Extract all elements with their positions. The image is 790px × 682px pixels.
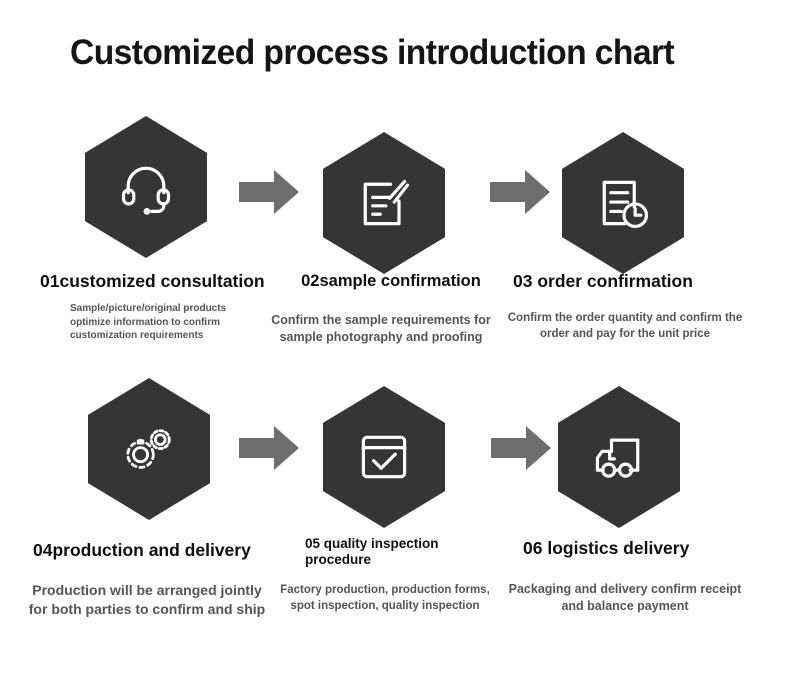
step-description-04: Production will be arranged jointly for … [22,581,272,619]
step-title-03: 03 order confirmation [513,271,693,291]
hexagon-step-01 [85,116,207,258]
step-title-04: 04production and delivery [33,540,251,560]
step-title-05: 05 quality inspection procedure [305,536,455,567]
step-description-01: Sample/picture/original products optimiz… [70,302,260,343]
gears-icon [119,419,179,479]
step-title-06: 06 logistics delivery [523,538,689,558]
arrow-01-to-02 [239,170,299,214]
hexagon-step-04 [88,378,210,520]
hexagon-step-05 [323,386,445,528]
document-pencil-icon [354,173,414,233]
arrow-02-to-03 [490,170,550,214]
step-description-06: Packaging and delivery confirm receipt a… [505,581,745,615]
arrow-04-to-05 [239,426,299,470]
document-clock-icon [593,173,653,233]
step-title-02: 02sample confirmation [291,272,491,291]
step-title-01: 01customized consultation [40,271,265,291]
page-title: Customized process introduction chart [70,33,674,73]
hexagon-step-02 [323,132,445,274]
delivery-truck-icon [589,427,649,487]
arrow-05-to-06 [491,426,551,470]
hexagon-step-03 [562,132,684,274]
step-description-03: Confirm the order quantity and confirm t… [505,311,745,342]
step-description-05: Factory production, production forms, sp… [272,583,498,614]
checkbox-window-icon [354,427,414,487]
hexagon-step-06 [558,386,680,528]
process-chart: Customized process introduction chart [0,0,790,682]
step-description-02: Confirm the sample requirements for samp… [266,312,496,346]
headset-icon [116,157,176,217]
